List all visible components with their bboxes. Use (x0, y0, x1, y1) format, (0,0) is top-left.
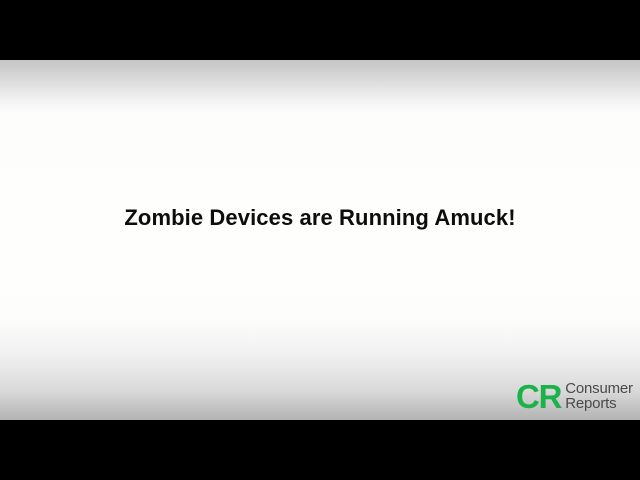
letterbox-bar-bottom (0, 420, 640, 480)
slide-title: Zombie Devices are Running Amuck! (0, 205, 640, 231)
letterbox-bar-top (0, 0, 640, 60)
logo-wordmark-line-1: Consumer (565, 381, 633, 397)
slide-canvas (0, 60, 640, 420)
video-frame: Zombie Devices are Running Amuck! CR Con… (0, 0, 640, 480)
consumer-reports-logo: CR Consumer Reports (516, 376, 636, 416)
cr-monogram-icon: CR (516, 380, 561, 413)
logo-wordmark-line-2: Reports (565, 396, 633, 412)
logo-wordmark: Consumer Reports (565, 381, 633, 412)
